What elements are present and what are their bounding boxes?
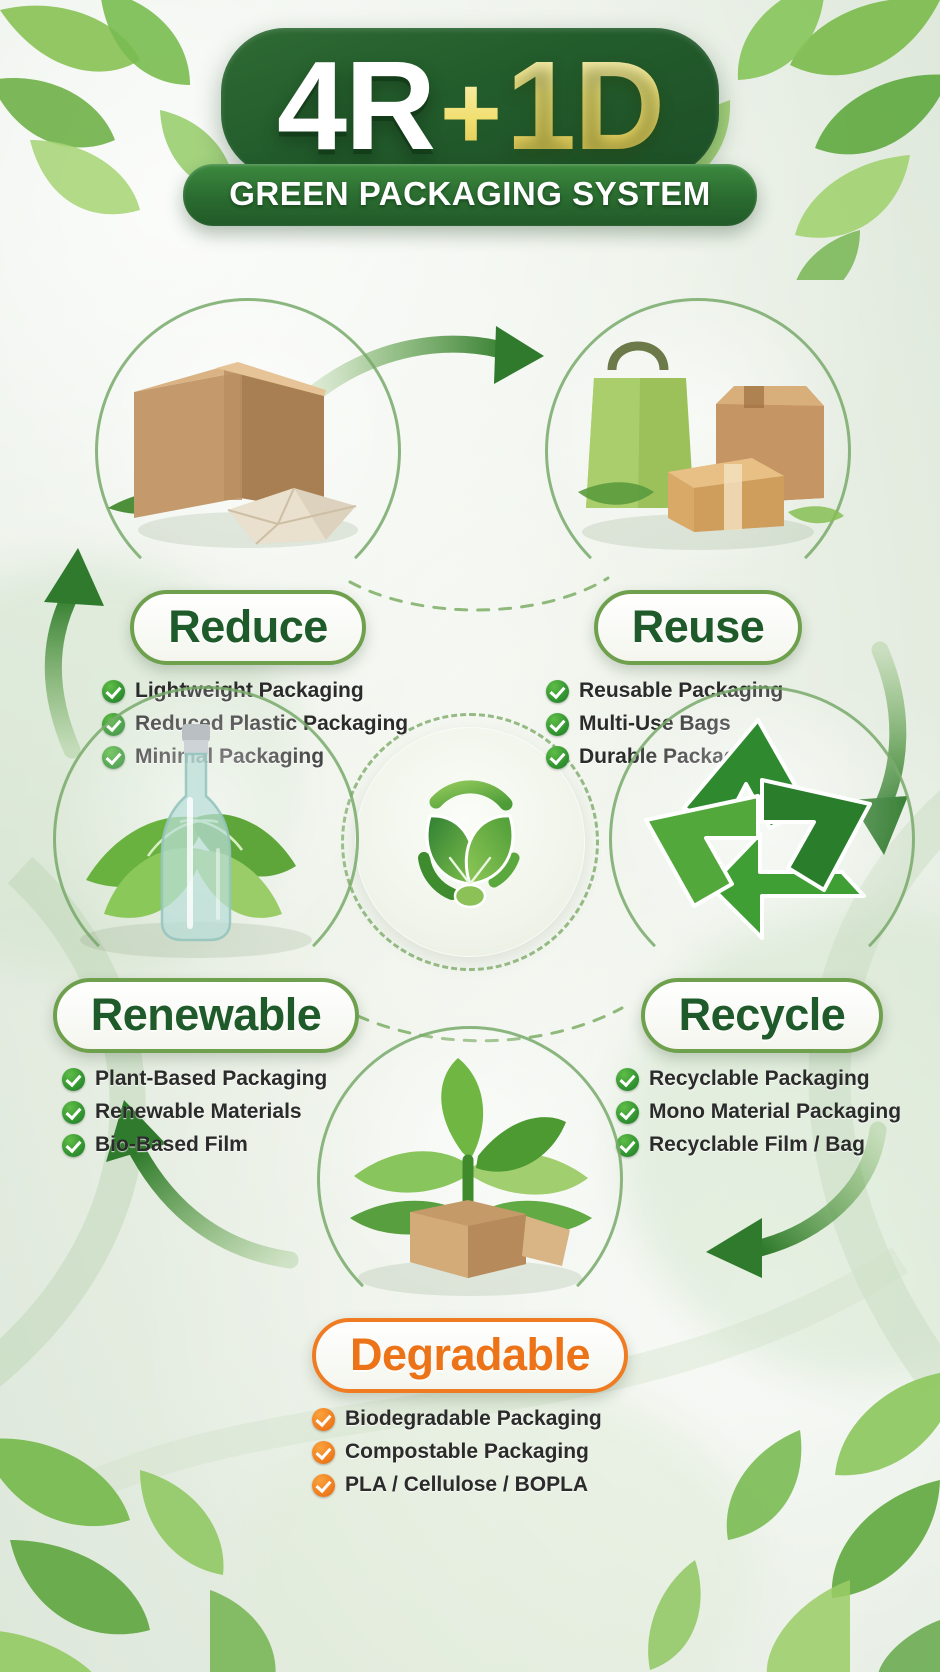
reduce-label: Reduce	[168, 603, 328, 650]
bullet-text: Plant-Based Packaging	[95, 1067, 327, 1091]
bullet-text: Recyclable Film / Bag	[649, 1133, 865, 1157]
degradable-illustration	[310, 1040, 630, 1318]
renewable-illustration	[46, 700, 366, 978]
list-item: Recyclable Packaging	[616, 1067, 932, 1091]
recycle-illustration	[602, 700, 922, 978]
renewable-label: Renewable	[91, 991, 322, 1038]
recycle-arrows-icon	[602, 700, 922, 978]
degradable-label-pill[interactable]: Degradable	[312, 1318, 628, 1393]
subtitle-text: GREEN PACKAGING SYSTEM	[229, 175, 711, 212]
list-item: Biodegradable Packaging	[312, 1407, 640, 1431]
list-item: Recyclable Film / Bag	[616, 1133, 932, 1157]
infographic-poster: 4R+1D GREEN PACKAGING SYSTEM	[0, 0, 940, 1672]
title-plate: 4R+1D	[221, 28, 719, 178]
node-recycle[interactable]: Recycle Recyclable Packaging Mono Materi…	[592, 700, 932, 1166]
bullet-text: Biodegradable Packaging	[345, 1407, 602, 1431]
check-icon	[62, 1134, 85, 1157]
glass-bottle-with-leaves-icon	[46, 700, 366, 978]
list-item: PLA / Cellulose / BOPLA	[312, 1473, 640, 1497]
check-icon	[546, 713, 569, 736]
reuse-label-pill[interactable]: Reuse	[594, 590, 803, 665]
recycle-bullet-list: Recyclable Packaging Mono Material Packa…	[616, 1067, 932, 1157]
title-1d: 1D	[506, 35, 663, 176]
reduce-illustration	[88, 312, 408, 590]
bullet-text: Compostable Packaging	[345, 1440, 589, 1464]
bullet-text: Recyclable Packaging	[649, 1067, 870, 1091]
reuse-illustration	[538, 312, 858, 590]
check-icon	[546, 680, 569, 703]
bullet-text: Bio-Based Film	[95, 1133, 248, 1157]
leaf-decoration-icon	[0, 1380, 310, 1672]
seedling-in-box-icon	[310, 1040, 630, 1318]
recycle-label-pill[interactable]: Recycle	[641, 978, 884, 1053]
check-icon	[62, 1101, 85, 1124]
poster-header: 4R+1D GREEN PACKAGING SYSTEM	[0, 28, 940, 226]
leaf-decoration-icon	[600, 1330, 940, 1672]
cardboard-boxes-icon	[88, 312, 408, 590]
bullet-text: PLA / Cellulose / BOPLA	[345, 1473, 588, 1497]
bullet-text: Mono Material Packaging	[649, 1100, 901, 1124]
check-icon	[62, 1068, 85, 1091]
tote-bag-and-boxes-icon	[538, 312, 858, 590]
list-item: Compostable Packaging	[312, 1440, 640, 1464]
check-icon	[312, 1474, 335, 1497]
title-4r: 4R	[277, 35, 434, 176]
degradable-label: Degradable	[350, 1331, 590, 1378]
check-icon	[312, 1441, 335, 1464]
list-item: Mono Material Packaging	[616, 1100, 932, 1124]
bullet-text: Renewable Materials	[95, 1100, 302, 1124]
leaf-sprout-recycle-icon	[390, 762, 550, 922]
subtitle-pill: GREEN PACKAGING SYSTEM	[183, 164, 757, 226]
check-icon	[546, 746, 569, 769]
node-degradable[interactable]: Degradable Biodegradable Packaging Compo…	[300, 1040, 640, 1506]
title-plus-icon: +	[434, 54, 506, 172]
recycle-label: Recycle	[679, 991, 846, 1038]
degradable-bullet-list: Biodegradable Packaging Compostable Pack…	[312, 1407, 640, 1497]
reduce-label-pill[interactable]: Reduce	[130, 590, 366, 665]
check-icon	[312, 1408, 335, 1431]
page-title: 4R+1D	[277, 38, 663, 174]
reuse-label: Reuse	[632, 603, 765, 650]
